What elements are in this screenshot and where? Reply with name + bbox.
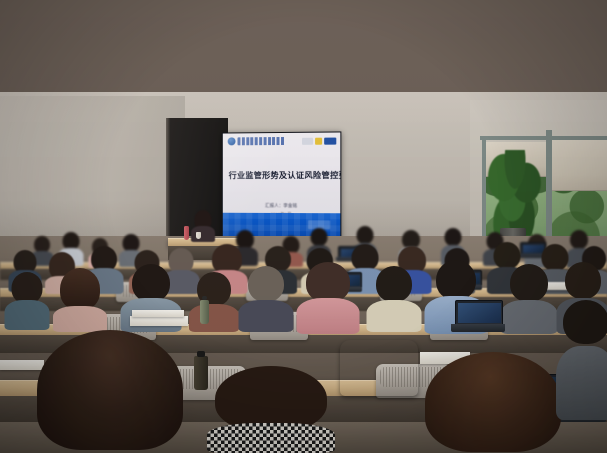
attendee [296,262,360,334]
slide-badge-gray [302,137,313,144]
potted-plant [487,150,543,236]
attendee-hair [37,330,183,450]
foreground-attendee-right [418,352,568,453]
document-stack [130,316,188,326]
presenter-body [191,226,215,242]
foreground-attendee-patterned [206,366,336,453]
foreground-attendee-left [30,330,190,453]
laptop[interactable] [455,300,501,332]
attendee [4,272,50,330]
curtain-edge [166,118,170,246]
attendee [238,266,294,332]
attendee [366,266,422,332]
thermos-bottle [184,226,189,240]
backpack [340,340,418,396]
slide-header [223,132,341,148]
slide-badge-blue [324,137,336,144]
projection-screen: 行业监管形势及认证风险管控要求介绍 汇报人：李金铭 2019年6月 [222,131,342,242]
meeting-room-photo: 行业监管形势及认证风险管控要求介绍 汇报人：李金铭 2019年6月 [0,0,607,453]
slide-presenter: 汇报人：李金铭 [229,203,335,209]
window-blind[interactable] [552,138,607,191]
water-bottle [200,300,209,324]
attendee [52,268,108,332]
window-mullion [480,136,607,140]
presentation-slide: 行业监管形势及认证风险管控要求介绍 汇报人：李金铭 2019年6月 [223,132,341,241]
organization-logo-icon [228,137,236,145]
attendee-hair [425,352,561,452]
presenter [190,210,216,242]
attendee-hair [60,268,100,310]
patterned-jacket [207,423,335,453]
foreground-attendee-far-right [556,300,607,420]
slide-title: 行业监管形势及认证风险管控要求介绍 [229,169,335,181]
organization-logo-text [237,137,284,145]
attendee [188,272,240,332]
document-stack [132,310,184,317]
attendee [500,264,558,334]
paper-cup [196,232,201,239]
slide-badge-gold [315,137,322,144]
